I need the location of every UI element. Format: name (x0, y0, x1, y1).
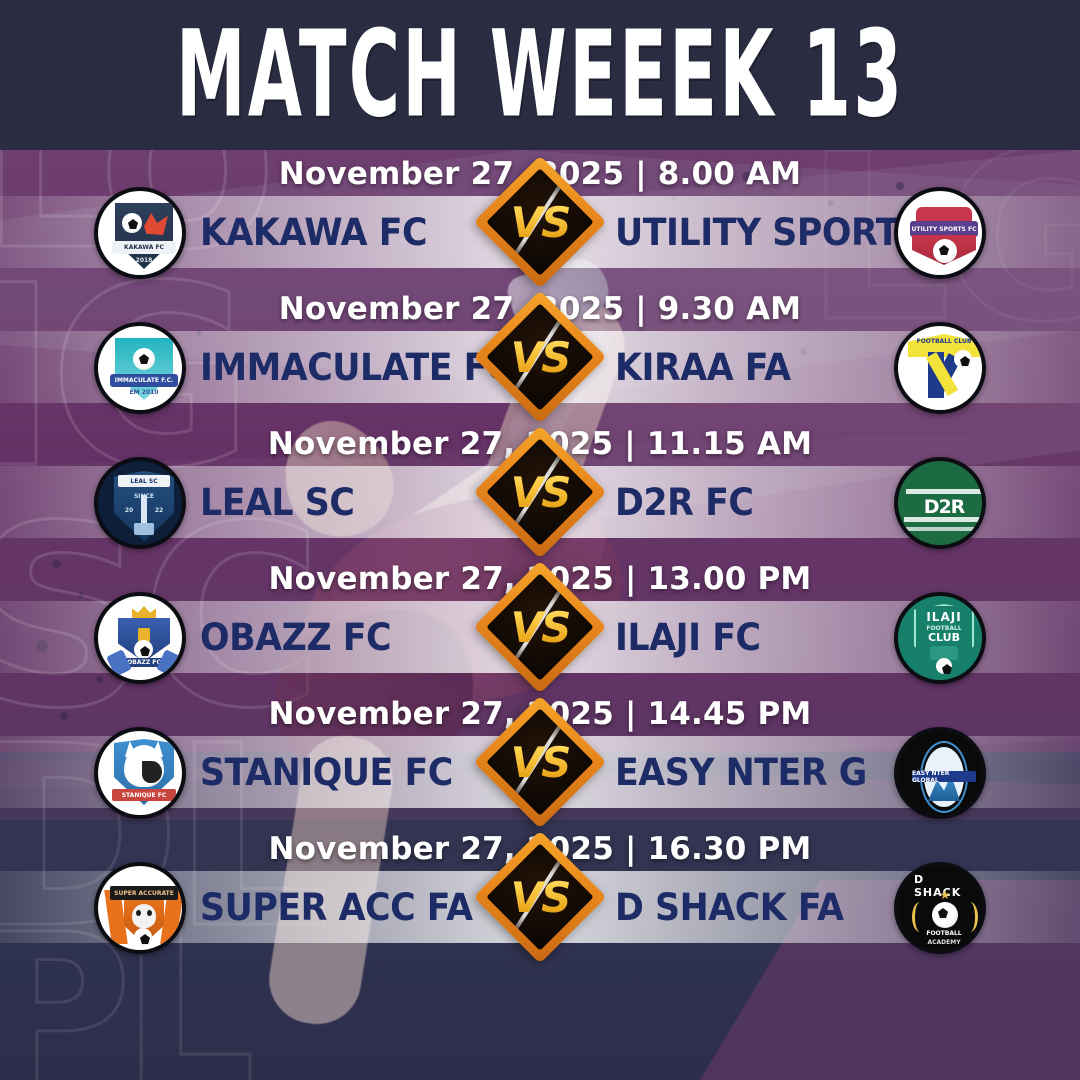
page-title-text: MATCH WEEEK 13 (176, 15, 904, 135)
match-row[interactable]: November 27, 2025 | 13.00 PM OBAZZ FC OB… (0, 555, 1080, 690)
d2r-fc-logo[interactable]: D2R (894, 457, 986, 549)
home-team-name: KAKAWA FC (200, 196, 427, 268)
away-team-name: KIRAA FA (615, 331, 791, 403)
away-team-name: ILAJI FC (615, 601, 761, 673)
super-accurate-fa-logo[interactable]: SUPER ACCURATE (94, 862, 186, 954)
away-team-name: EASY NTER G (615, 736, 867, 808)
poster-root: LO IG SC DL PL LG MATCH WEEEK 13 Novembe… (0, 0, 1080, 1080)
ilaji-fc-logo[interactable]: ILAJI FOOTBALL CLUB (894, 592, 986, 684)
vs-label: VS (502, 319, 578, 395)
stanique-fc-logo[interactable]: STANIQUE FC (94, 727, 186, 819)
kakawa-fc-logo[interactable]: KAKAWA FC 2018 (94, 187, 186, 279)
home-team-name: OBAZZ FC (200, 601, 391, 673)
easy-nter-global-logo[interactable]: EASY NTER GLOBAL (894, 727, 986, 819)
vs-label: VS (502, 184, 578, 260)
utility-sports-fc-logo[interactable]: UTILITY SPORTS FC (894, 187, 986, 279)
match-row[interactable]: November 27, 2025 | 16.30 PM SUPER ACCUR… (0, 825, 1080, 960)
home-team-name: SUPER ACC FA (200, 871, 473, 943)
vs-label: VS (502, 724, 578, 800)
match-row[interactable]: November 27, 2025 | 9.30 AM IMMACULATE F… (0, 285, 1080, 420)
d-shack-football-academy-logo[interactable]: D SHACK FOOTBALL ACADEMY (894, 862, 986, 954)
home-team-name: STANIQUE FC (200, 736, 453, 808)
home-team-name: IMMACULATE FC (200, 331, 512, 403)
obazz-fc-logo[interactable]: OBAZZ FC (94, 592, 186, 684)
match-row[interactable]: November 27, 2025 | 8.00 AM KAKAWA FC 20… (0, 150, 1080, 285)
home-team-name: LEAL SC (200, 466, 354, 538)
vs-label: VS (502, 859, 578, 935)
away-team-name: D SHACK FA (615, 871, 844, 943)
match-row[interactable]: November 27, 2025 | 11.15 AM LEAL SC SIN… (0, 420, 1080, 555)
immaculate-fc-logo[interactable]: IMMACULATE F.C. EM 2010 (94, 322, 186, 414)
kiraa-fa-logo[interactable]: FOOTBALL CLUB (894, 322, 986, 414)
page-title: MATCH WEEEK 13 (0, 0, 1080, 150)
away-team-name: D2R FC (615, 466, 753, 538)
leal-sc-logo[interactable]: LEAL SC SINCE 20 22 (94, 457, 186, 549)
vs-label: VS (502, 589, 578, 665)
match-row[interactable]: November 27, 2025 | 14.45 PM STANIQUE FC… (0, 690, 1080, 825)
match-list: November 27, 2025 | 8.00 AM KAKAWA FC 20… (0, 150, 1080, 1080)
vs-label: VS (502, 454, 578, 530)
away-team-name: UTILITY SPORTS (615, 196, 924, 268)
